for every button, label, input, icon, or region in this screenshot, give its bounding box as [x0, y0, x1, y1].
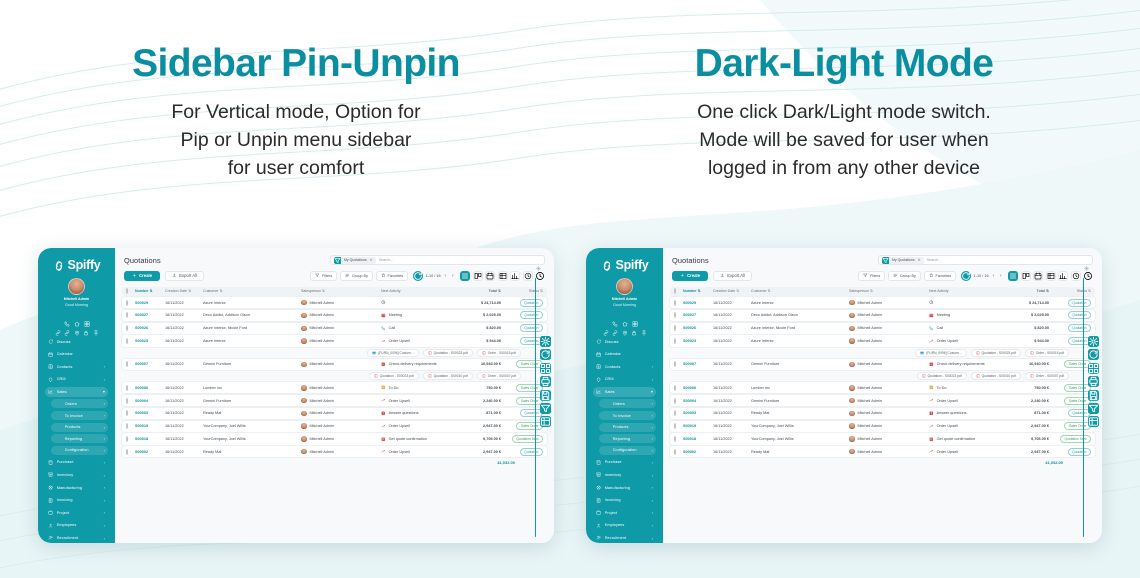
cell-creation-date: 16/11/2022 [713, 326, 751, 330]
recruitment-icon [596, 535, 601, 540]
sidebar-item-sales[interactable]: Sales▾ [593, 387, 656, 397]
check-icon [381, 362, 386, 367]
sidebar-item-configuration[interactable]: Configuration› [51, 446, 108, 455]
cell-status: Quotation [501, 311, 543, 319]
avatar [849, 436, 855, 442]
table-row[interactable]: S0002316/11/2022Azure InteriorMitchell A… [122, 335, 547, 346]
app-screenshot-right: SpiffyMitchell AdminGood MorningDiscussC… [586, 248, 1102, 543]
invoicing-icon [596, 498, 601, 503]
sidebar: SpiffyMitchell AdminGood MorningDiscussC… [586, 248, 663, 543]
calendar-icon [48, 352, 53, 357]
avatar[interactable] [68, 278, 85, 295]
upsell-icon [381, 398, 386, 403]
main-content: QuotationsMy Quotations✕Search...CreateE… [663, 248, 1102, 543]
employees-icon [48, 523, 53, 528]
grid-icon [632, 314, 638, 320]
sidebar-item-label: Contacts [605, 365, 648, 369]
attachment-chip[interactable]: Quotation - S00023.pdf [423, 349, 473, 357]
chevron-right-icon: › [104, 377, 105, 382]
cell-number[interactable]: S00018 [683, 437, 713, 441]
table-row[interactable]: S0002616/11/2022Azure Interior, Nicole F… [670, 323, 1095, 334]
search-input[interactable]: My Quotations✕Search... [330, 255, 545, 265]
favorites-button[interactable]: Favorites [924, 271, 956, 281]
table-row[interactable]: S0001916/11/2022YourCompany, Joel Willis… [670, 421, 1095, 432]
page-title: Quotations [124, 256, 161, 265]
row-checkbox[interactable] [674, 300, 676, 306]
select-all-checkbox[interactable] [126, 288, 128, 294]
sidebar-item-purchase[interactable]: Purchase› [45, 457, 108, 467]
upsell-icon [929, 398, 934, 403]
floating-action-rail[interactable] [539, 336, 552, 427]
sidebar-item-label: Products [611, 425, 648, 429]
print-rail-icon[interactable] [540, 376, 551, 387]
table-row[interactable]: S0000616/11/2022Lumber IncMitchell Admin… [122, 382, 547, 393]
row-checkbox[interactable] [126, 385, 128, 391]
graph-view-icon[interactable] [1058, 271, 1068, 281]
row-checkbox[interactable] [674, 436, 676, 442]
kanban-view-icon[interactable] [1021, 271, 1031, 281]
chevron-right-icon: › [652, 523, 653, 528]
cell-number[interactable]: S00019 [135, 424, 165, 428]
cell-total: $ 2,025.00 [459, 313, 501, 317]
attachment-chip[interactable]: Order - S00007.pdf [1025, 372, 1069, 380]
attachment-chip[interactable]: [FURN_0096] Custom... [367, 349, 418, 357]
chevron-right-icon: › [104, 436, 105, 441]
favorites-label: Favorites [936, 274, 952, 278]
export-all-button[interactable]: Export All [165, 271, 204, 281]
search-facet[interactable]: My Quotations✕ [334, 257, 376, 264]
table-row[interactable]: S0002916/11/2022Azure InteriorMitchell A… [670, 297, 1095, 308]
sidebar-item-contacts[interactable]: Contacts› [45, 362, 108, 372]
pager-prev-button[interactable]: ‹ [991, 273, 996, 279]
column-header-total[interactable]: Total ⇅ [1007, 289, 1049, 293]
table-row[interactable]: S0001816/11/2022YourCompany, Joel Willis… [122, 433, 547, 444]
cell-number[interactable]: S00026 [135, 326, 165, 330]
cell-customer: Azure Interior, Nicole Ford [203, 326, 301, 330]
cell-customer: YourCompany, Joel Willis [203, 437, 301, 441]
list-view-icon[interactable] [460, 271, 470, 281]
attachment-chip[interactable]: Order - S00007.pdf [477, 372, 521, 380]
avatar [301, 398, 307, 404]
row-checkbox[interactable] [674, 325, 676, 331]
cell-creation-date: 16/11/2022 [713, 339, 751, 343]
calendar-view-icon[interactable] [1033, 271, 1043, 281]
refresh-rail-icon[interactable] [1088, 349, 1099, 360]
select-all-checkbox[interactable] [674, 288, 676, 294]
brand-name: Spiffy [616, 258, 649, 272]
crm-icon [48, 377, 53, 382]
filter-rail-icon[interactable] [540, 403, 551, 414]
table-row[interactable]: S0002716/11/2022Deco Addict, Addison Ols… [670, 310, 1095, 321]
row-checkbox[interactable] [126, 398, 128, 404]
purchase-icon [48, 460, 53, 465]
pdf-file-icon [1030, 374, 1034, 378]
create-button[interactable]: Create [124, 271, 160, 281]
sidebar-item-products[interactable]: Products› [599, 423, 656, 432]
activity-label: Check delivery requirements [937, 362, 985, 366]
table-row[interactable]: S0002616/11/2022Azure Interior, Nicole F… [122, 323, 547, 334]
cell-total: 2,240.00 € [459, 399, 501, 403]
row-checkbox[interactable] [126, 436, 128, 442]
avatar [849, 385, 855, 391]
table-row[interactable]: S0000416/11/2022Gemini FurnitureMitchell… [670, 395, 1095, 406]
scrollbar[interactable] [1083, 278, 1084, 537]
row-checkbox[interactable] [674, 338, 676, 344]
refresh-icon[interactable] [413, 271, 423, 281]
activity-label: Order Upsell [389, 339, 410, 343]
sidebar-item-manufacturing[interactable]: Manufacturing› [593, 483, 656, 493]
list-view-icon[interactable] [1008, 271, 1018, 281]
salesperson-name: Mitchell Admin [310, 326, 334, 330]
activity-label: To Do [937, 386, 947, 390]
avatar [849, 398, 855, 404]
column-header-creation-date[interactable]: Creation Date ⇅ [713, 289, 751, 293]
group-by-button[interactable]: Group By [888, 271, 921, 281]
feature-block-darkmode: Dark-Light Mode One click Dark/Light mod… [584, 44, 1104, 182]
activity-clock-icon[interactable] [535, 271, 545, 281]
column-header-customer[interactable]: Customer ⇅ [751, 289, 849, 293]
kanban-view-icon[interactable] [473, 271, 483, 281]
salesperson-name: Mitchell Admin [310, 411, 334, 415]
upsell-icon [381, 424, 386, 429]
cell-number[interactable]: S00018 [135, 437, 165, 441]
table-header: Number ⇅Creation Date ⇅Customer ⇅Salespe… [670, 287, 1095, 296]
column-header-number[interactable]: Number ⇅ [135, 289, 165, 293]
pager[interactable]: 1-10 / 16‹› [413, 271, 455, 281]
cell-salesperson: Mitchell Admin [849, 436, 929, 442]
cell-number[interactable]: S00023 [683, 339, 713, 343]
pin-icon [641, 323, 647, 329]
gear-icon [1084, 258, 1089, 263]
chevron-right-icon: › [104, 473, 105, 478]
row-checkbox[interactable] [126, 449, 128, 455]
graph-view-icon[interactable] [510, 271, 520, 281]
cell-salesperson: Mitchell Admin [849, 398, 929, 404]
sidebar-item-recruitment[interactable]: Recruitment› [593, 533, 656, 543]
row-checkbox[interactable] [126, 338, 128, 344]
save-rail-icon[interactable] [1088, 390, 1099, 401]
salesperson-name: Mitchell Admin [858, 399, 882, 403]
sidebar-item-to-invoice[interactable]: To Invoice› [51, 411, 108, 420]
pdf-file-icon [428, 351, 432, 355]
cell-number[interactable]: S00023 [135, 339, 165, 343]
cell-number[interactable]: S00027 [135, 313, 165, 317]
attachment-label: Order - S00015.pdf [1036, 351, 1064, 355]
cell-status: Sales Order [1049, 384, 1091, 392]
chevron-right-icon: › [652, 364, 653, 369]
refresh-icon[interactable] [961, 271, 971, 281]
column-header-salesperson[interactable]: Salesperson ⇅ [301, 289, 381, 293]
row-checkbox[interactable] [126, 361, 128, 367]
call-icon [381, 326, 386, 331]
sidebar-item-project[interactable]: Project› [45, 508, 108, 518]
sidebar-item-reporting[interactable]: Reporting› [51, 434, 108, 443]
upsell-icon [929, 424, 934, 429]
row-checkbox[interactable] [126, 300, 128, 306]
chevron-right-icon: › [104, 425, 105, 430]
column-header-next-activity[interactable]: Next Activity [381, 289, 459, 293]
attachment-chip[interactable]: Quotation - S00023.pdf [369, 372, 419, 380]
avatar [849, 313, 855, 319]
calendar-view-icon[interactable] [485, 271, 495, 281]
cell-next-activity [381, 300, 459, 305]
cell-customer: Azure Interior [203, 301, 301, 305]
favorites-button[interactable]: Favorites [376, 271, 408, 281]
attachment-chip[interactable]: Quotation - S00010.pdf [971, 372, 1021, 380]
layout-rail-icon[interactable] [540, 363, 551, 374]
cell-status: Sales Order [1049, 422, 1091, 430]
clock-icon [381, 300, 386, 305]
cell-total: $ 820.00 [1007, 326, 1049, 330]
table-row[interactable]: S0002916/11/2022Azure InteriorMitchell A… [122, 297, 547, 308]
chevron-right-icon: › [104, 364, 105, 369]
activity-label: Order Upsell [389, 450, 410, 454]
salesperson-name: Mitchell Admin [310, 386, 334, 390]
table-row[interactable]: S0000216/11/2022Ready MatMitchell AdminO… [670, 446, 1095, 457]
chevron-right-icon: › [652, 401, 653, 406]
view-switcher[interactable] [460, 271, 545, 281]
sidebar-item-calendar[interactable]: Calendar [593, 349, 656, 359]
sidebar-item-project[interactable]: Project› [593, 508, 656, 518]
main-content: QuotationsMy Quotations✕Search...CreateE… [115, 248, 554, 543]
table-row[interactable]: S0002716/11/2022Deco Addict, Addison Ols… [122, 310, 547, 321]
sidebar-item-calendar[interactable]: Calendar [45, 349, 108, 359]
column-header-creation-date[interactable]: Creation Date ⇅ [165, 289, 203, 293]
sidebar-item-crm[interactable]: CRM› [593, 374, 656, 384]
search-facet[interactable]: My Quotations✕ [882, 257, 924, 264]
filter-rail-icon[interactable] [1088, 403, 1099, 414]
attachment-chip[interactable]: Order - S00015.pdf [1025, 349, 1069, 357]
cell-number[interactable]: S00003 [683, 411, 713, 415]
attachment-row: [FURN_0096] Custom...Quotation - S00023.… [670, 348, 1095, 357]
view-switcher[interactable] [1008, 271, 1093, 281]
pivot-view-icon[interactable] [498, 271, 508, 281]
cell-number[interactable]: S00029 [135, 301, 165, 305]
cell-number[interactable]: S00007 [135, 362, 165, 366]
cell-salesperson: Mitchell Admin [849, 362, 929, 368]
save-rail-icon[interactable] [540, 390, 551, 401]
cell-number[interactable]: S00027 [683, 313, 713, 317]
cell-creation-date: 16/11/2022 [713, 301, 751, 305]
attachment-label: Quotation - S00023.pdf [982, 351, 1016, 355]
cell-customer: YourCompany, Joel Willis [751, 437, 849, 441]
sidebar-item-inventory[interactable]: Inventory› [45, 470, 108, 480]
sidebar-item-reporting[interactable]: Reporting› [599, 434, 656, 443]
column-header-status[interactable]: Status ⇅ [1049, 289, 1091, 293]
column-header-number[interactable]: Number ⇅ [683, 289, 713, 293]
cell-status: Sales Order [1049, 397, 1091, 405]
attachment-chip[interactable]: Quotation - S00023.pdf [971, 349, 1021, 357]
table-row[interactable]: S0000716/11/2022Gemini FurnitureMitchell… [670, 359, 1095, 370]
cell-number[interactable]: S00026 [683, 326, 713, 330]
sidebar-item-employees[interactable]: Employees› [593, 520, 656, 530]
quick-icons-row-2[interactable] [590, 323, 659, 329]
sidebar-item-invoicing[interactable]: Invoicing› [593, 495, 656, 505]
phone-icon [64, 314, 70, 320]
cell-next-activity: Meeting [381, 313, 459, 318]
sidebar-item-orders[interactable]: Orders› [51, 399, 108, 408]
pivot-view-icon[interactable] [1046, 271, 1056, 281]
table-row[interactable]: S0000716/11/2022Gemini FurnitureMitchell… [122, 359, 547, 370]
settings-rail-icon[interactable] [1088, 336, 1099, 347]
row-checkbox[interactable] [126, 410, 128, 416]
row-checkbox[interactable] [674, 361, 676, 367]
sidebar-item-inventory[interactable]: Inventory› [593, 470, 656, 480]
table-row[interactable]: S0002316/11/2022Azure InteriorMitchell A… [670, 335, 1095, 346]
cell-creation-date: 16/11/2022 [713, 450, 751, 454]
table-footer-total: 41,032.00 [670, 457, 1095, 465]
quick-icons-row-2[interactable] [42, 323, 111, 329]
column-header-next-activity[interactable]: Next Activity [929, 289, 1007, 293]
row-checkbox[interactable] [674, 312, 676, 318]
sidebar-item-crm[interactable]: CRM› [45, 374, 108, 384]
pager[interactable]: 1-10 / 16‹› [961, 271, 1003, 281]
column-header-status[interactable]: Status ⇅ [501, 289, 543, 293]
upsell-icon [381, 339, 386, 344]
row-checkbox[interactable] [674, 449, 676, 455]
cell-number[interactable]: S00004 [135, 399, 165, 403]
chevron-right-icon: › [652, 436, 653, 441]
chevron-down-icon: ▾ [651, 389, 653, 394]
sidebar-item-purchase[interactable]: Purchase› [593, 457, 656, 467]
scrollbar[interactable] [535, 278, 536, 537]
sidebar-item-employees[interactable]: Employees› [45, 520, 108, 530]
cell-number[interactable]: S00006 [683, 386, 713, 390]
row-checkbox[interactable] [674, 423, 676, 429]
cell-total: 871.00 € [459, 411, 501, 415]
sidebar-item-contacts[interactable]: Contacts› [593, 362, 656, 372]
cell-number[interactable]: S00007 [683, 362, 713, 366]
app-screenshot-left: SpiffyMitchell AdminGood MorningDiscussC… [38, 248, 554, 543]
export-all-button[interactable]: Export All [713, 271, 752, 281]
cell-number[interactable]: S00002 [683, 450, 713, 454]
cell-number[interactable]: S00019 [683, 424, 713, 428]
avatar [849, 338, 855, 344]
avatar[interactable] [616, 278, 633, 295]
brand-name: Spiffy [68, 258, 101, 272]
cell-number[interactable]: S00029 [683, 301, 713, 305]
cell-status: Quotation [1049, 337, 1091, 345]
cell-total: 2,240.00 € [1007, 399, 1049, 403]
cell-customer: Lumber Inc [751, 386, 849, 390]
layout-rail-icon[interactable] [1088, 363, 1099, 374]
row-checkbox[interactable] [126, 325, 128, 331]
cell-status: Quotation [501, 299, 543, 307]
cell-customer: Deco Addict, Addison Olson [203, 313, 301, 317]
cell-customer: YourCompany, Joel Willis [203, 424, 301, 428]
spiffy-mark-icon [601, 259, 613, 271]
upload-icon [172, 273, 177, 278]
cell-creation-date: 16/11/2022 [165, 313, 203, 317]
row-checkbox[interactable] [126, 423, 128, 429]
refresh-rail-icon[interactable] [540, 349, 551, 360]
column-header-customer[interactable]: Customer ⇅ [203, 289, 301, 293]
cell-status: Quotation [1049, 409, 1091, 417]
floating-action-rail[interactable] [1087, 336, 1100, 427]
sidebar-item-manufacturing[interactable]: Manufacturing› [45, 483, 108, 493]
status-badge: Quotation [1068, 324, 1091, 332]
table-row[interactable]: S0000416/11/2022Gemini FurnitureMitchell… [122, 395, 547, 406]
cell-number[interactable]: S00006 [135, 386, 165, 390]
filter-icon [863, 273, 868, 278]
sidebar-item-configuration[interactable]: Configuration› [599, 446, 656, 455]
column-header-total[interactable]: Total ⇅ [459, 289, 501, 293]
table-row[interactable]: S0001816/11/2022YourCompany, Joel Willis… [670, 433, 1095, 444]
sidebar-item-products[interactable]: Products› [51, 423, 108, 432]
cell-next-activity: Order Upsell [381, 398, 459, 403]
attachment-chip[interactable]: Quotation - S00023.pdf [917, 372, 967, 380]
cell-number[interactable]: S00003 [135, 411, 165, 415]
filters-button[interactable]: Filters [310, 271, 337, 281]
cell-next-activity: To Do [381, 385, 459, 390]
attachment-label: Quotation - S00023.pdf [434, 351, 468, 355]
attachment-row: Quotation - S00023.pdfQuotation - S00010… [670, 372, 1095, 381]
export-rail-icon[interactable] [540, 416, 551, 427]
calendar-icon [596, 352, 601, 357]
sidebar-item-discuss[interactable]: Discuss [45, 337, 108, 347]
table-row[interactable]: S0000316/11/2022Ready MatMitchell AdminA… [122, 408, 547, 419]
groupby-icon [893, 273, 898, 278]
chat-icon [48, 339, 53, 344]
search-input[interactable]: My Quotations✕Search... [878, 255, 1093, 265]
cell-number[interactable]: S00004 [683, 399, 713, 403]
pager-prev-button[interactable]: ‹ [443, 273, 448, 279]
attachment-chip[interactable]: Order - S00015.pdf [477, 349, 521, 357]
activity-view-icon[interactable] [523, 271, 533, 281]
filters-button[interactable]: Filters [858, 271, 885, 281]
group-by-button[interactable]: Group By [340, 271, 373, 281]
pager-next-button[interactable]: › [998, 273, 1003, 279]
table-row[interactable]: S0000616/11/2022Lumber IncMitchell Admin… [670, 382, 1095, 393]
sidebar-item-orders[interactable]: Orders› [599, 399, 656, 408]
avatar [301, 449, 307, 455]
sidebar-item-discuss[interactable]: Discuss [593, 337, 656, 347]
activity-view-icon[interactable] [1071, 271, 1081, 281]
table-row[interactable]: S0000216/11/2022Ready MatMitchell AdminO… [122, 446, 547, 457]
cell-number[interactable]: S00002 [135, 450, 165, 454]
avatar [301, 436, 307, 442]
quick-icons-row-1[interactable] [590, 314, 659, 320]
row-checkbox[interactable] [126, 312, 128, 318]
row-checkbox[interactable] [674, 410, 676, 416]
attachment-row: [FURN_0096] Custom...Quotation - S00023.… [122, 348, 547, 357]
attachment-chip[interactable]: Quotation - S00010.pdf [423, 372, 473, 380]
export-rail-icon[interactable] [1088, 416, 1099, 427]
sidebar-item-recruitment[interactable]: Recruitment› [45, 533, 108, 543]
quick-icons-row-1[interactable] [42, 314, 111, 320]
sidebar-item-label: To Invoice [611, 414, 648, 418]
cell-status: Quotation [1049, 448, 1091, 456]
table-header: Number ⇅Creation Date ⇅Customer ⇅Salespe… [122, 287, 547, 296]
activity-label: Answer questions [937, 411, 967, 415]
activity-clock-icon[interactable] [1083, 271, 1093, 281]
sidebar-item-to-invoice[interactable]: To Invoice› [599, 411, 656, 420]
sidebar-item-invoicing[interactable]: Invoicing› [45, 495, 108, 505]
create-button[interactable]: Create [672, 271, 708, 281]
print-rail-icon[interactable] [1088, 376, 1099, 387]
column-header-salesperson[interactable]: Salesperson ⇅ [849, 289, 929, 293]
attachment-chip[interactable]: [FURN_0096] Custom... [915, 349, 966, 357]
table-row[interactable]: S0001916/11/2022YourCompany, Joel Willis… [122, 421, 547, 432]
table-row[interactable]: S0000316/11/2022Ready MatMitchell AdminA… [670, 408, 1095, 419]
settings-rail-icon[interactable] [540, 336, 551, 347]
sidebar-item-sales[interactable]: Sales▾ [45, 387, 108, 397]
chevron-right-icon: › [104, 401, 105, 406]
pager-next-button[interactable]: › [450, 273, 455, 279]
row-checkbox[interactable] [674, 398, 676, 404]
cell-creation-date: 16/11/2022 [165, 386, 203, 390]
row-checkbox[interactable] [674, 385, 676, 391]
